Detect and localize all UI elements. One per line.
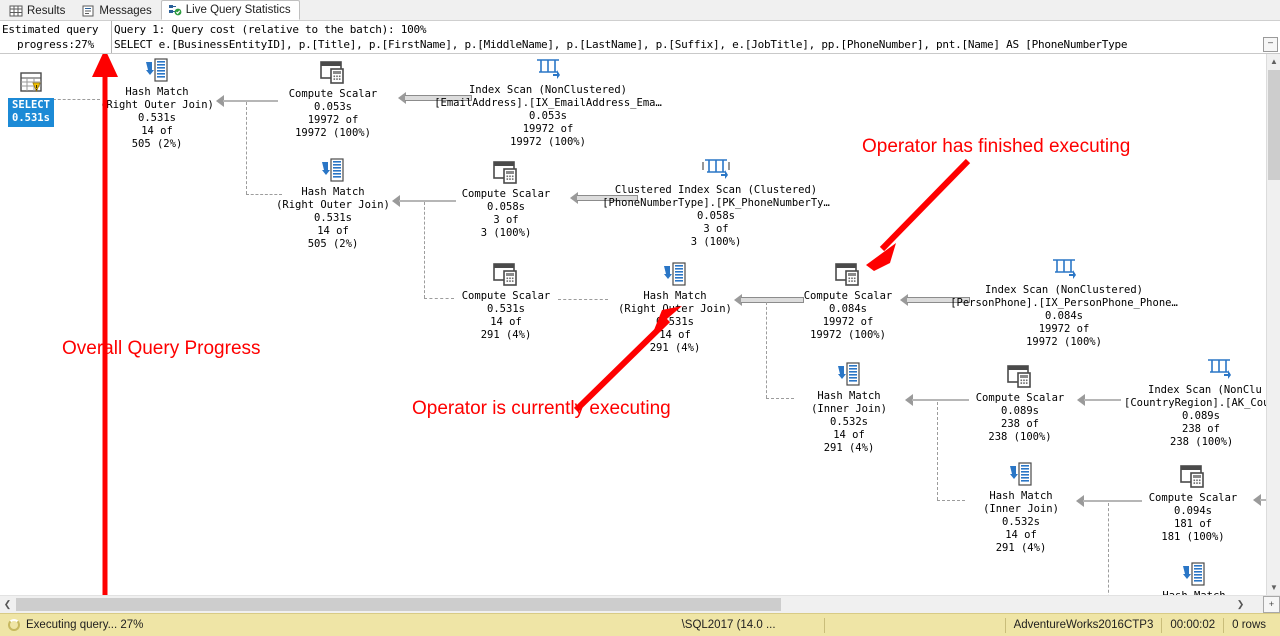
tab-results[interactable]: Results xyxy=(2,0,74,20)
node-line-3: 3 of xyxy=(582,223,850,236)
node-line-2: 0.532s xyxy=(790,416,908,429)
arrow-overall-query-progress xyxy=(80,54,130,595)
hash-match-icon xyxy=(1179,562,1209,588)
node-line-3: 19972 (100%) xyxy=(790,329,906,342)
status-server[interactable]: \SQL2017 (14.0 ... xyxy=(674,614,824,636)
arrow-operator-finished xyxy=(850,149,980,279)
node-line-2: 181 of xyxy=(1135,518,1251,531)
query-header-pane: Estimated query progress:27% Query 1: Qu… xyxy=(0,21,1280,54)
plan-node-index-scan-countryregion[interactable]: Index Scan (NonClu [CountryRegion].[AK_C… xyxy=(1124,356,1266,449)
node-line-3: 181 (100%) xyxy=(1135,531,1251,544)
select-node-label: SELECT xyxy=(12,99,50,112)
node-line-1: (Inner Join) xyxy=(962,503,1080,516)
link-hm2-down xyxy=(424,202,425,298)
node-line-0: Compute Scalar xyxy=(962,392,1078,405)
node-line-2: 0.084s xyxy=(930,310,1198,323)
query-text-block: Query 1: Query cost (relative to the bat… xyxy=(114,21,1264,53)
index-scan-icon xyxy=(1204,356,1234,382)
node-line-2: 0.532s xyxy=(962,516,1080,529)
plan-node-hash-match-inner-2[interactable]: Hash Match (Inner Join) 0.532s 14 of 291… xyxy=(962,462,1080,555)
node-line-0: Hash Match xyxy=(962,490,1080,503)
node-line-0: Index Scan (NonClu xyxy=(1124,384,1266,397)
scroll-right-button[interactable]: ❯ xyxy=(1233,596,1248,613)
plan-horizontal-scrollbar[interactable]: ❮ ❯ + xyxy=(0,595,1280,613)
node-line-3: 19972 of xyxy=(414,123,682,136)
status-rows-text: 0 rows xyxy=(1232,619,1266,631)
node-line-0: Compute Scalar xyxy=(275,88,391,101)
node-line-2: 19972 of xyxy=(275,114,391,127)
plan-node-select[interactable]: SELECT 0.531s xyxy=(8,72,54,127)
node-line-0: Index Scan (NonClustered) xyxy=(930,284,1198,297)
node-line-3: 19972 of xyxy=(930,323,1198,336)
node-line-2: 0.058s xyxy=(582,210,850,223)
node-line-1: [CountryRegion].[AK_Cou xyxy=(1124,397,1266,410)
node-line-4: 19972 (100%) xyxy=(930,336,1198,349)
select-node-time: 0.531s xyxy=(12,112,50,125)
plan-node-index-scan-emailaddress[interactable]: Index Scan (NonClustered) [EmailAddress]… xyxy=(414,56,682,149)
live-query-statistics-window: Results Messages xyxy=(0,0,1280,636)
plan-node-compute-scalar-2[interactable]: Compute Scalar 0.058s 3 of 3 (100%) xyxy=(448,160,564,240)
query-cost-line: Query 1: Query cost (relative to the bat… xyxy=(114,22,1264,37)
node-line-2: 0.531s xyxy=(274,212,392,225)
plan-vertical-scrollbar[interactable]: ▲ ▼ xyxy=(1266,54,1280,595)
node-line-4: 505 (2%) xyxy=(274,238,392,251)
node-line-1: (Right Outer Join) xyxy=(274,199,392,212)
query-sql-line: SELECT e.[BusinessEntityID], p.[Title], … xyxy=(114,37,1264,52)
status-elapsed: 00:00:02 xyxy=(1162,614,1223,636)
compute-scalar-icon xyxy=(1178,464,1208,490)
node-line-0: Clustered Index Scan (Clustered) xyxy=(582,184,850,197)
tab-label-messages: Messages xyxy=(99,5,151,17)
estimated-query-progress-box: Estimated query progress:27% xyxy=(0,21,112,53)
message-icon xyxy=(81,4,95,18)
compute-scalar-icon xyxy=(1005,364,1035,390)
hash-match-icon xyxy=(834,362,864,388)
plan-node-compute-scalar-5[interactable]: Compute Scalar 0.089s 238 of 238 (100%) xyxy=(962,364,1078,444)
link-hm1-down xyxy=(246,102,247,194)
status-database[interactable]: AdventureWorks2016CTP3 xyxy=(1006,614,1162,636)
plan-node-compute-scalar-6[interactable]: Compute Scalar 0.094s 181 of 181 (100%) xyxy=(1135,464,1251,544)
tab-live-query-statistics[interactable]: Live Query Statistics xyxy=(161,0,300,20)
node-line-1: (Inner Join) xyxy=(790,403,908,416)
scroll-left-button[interactable]: ❮ xyxy=(0,596,15,613)
select-node-box: SELECT 0.531s xyxy=(8,98,54,127)
node-line-1: [PhoneNumberType].[PK_PhoneNumberTy… xyxy=(582,197,850,210)
scroll-corner-zoom-button[interactable]: + xyxy=(1263,596,1280,613)
annotation-operator-executing: Operator is currently executing xyxy=(412,398,671,420)
clustered-index-scan-icon xyxy=(701,156,731,182)
link-hm4-down xyxy=(937,402,938,500)
status-execution-text: Executing query... 27% xyxy=(26,619,143,631)
node-line-4: 291 (4%) xyxy=(790,442,908,455)
estimated-progress-line1: Estimated query xyxy=(0,22,111,37)
results-tabstrip: Results Messages xyxy=(0,0,1280,21)
plan-node-compute-scalar-1[interactable]: Compute Scalar 0.053s 19972 of 19972 (10… xyxy=(275,60,391,140)
status-elapsed-text: 00:00:02 xyxy=(1170,619,1215,631)
tab-messages[interactable]: Messages xyxy=(74,0,160,20)
estimated-progress-line2: progress:27% xyxy=(0,37,111,52)
node-line-3: 291 (4%) xyxy=(448,329,564,342)
node-line-0: Compute Scalar xyxy=(790,290,906,303)
tab-label-results: Results xyxy=(27,5,65,17)
horizontal-scroll-thumb[interactable] xyxy=(16,598,781,611)
execution-plan-canvas[interactable]: SELECT 0.531s Hash Match (Right Outer Jo… xyxy=(0,54,1266,595)
node-line-3: 14 of xyxy=(274,225,392,238)
plan-node-hash-match-inner-1[interactable]: Hash Match (Inner Join) 0.532s 14 of 291… xyxy=(790,362,908,455)
hash-match-icon xyxy=(1006,462,1036,488)
progress-spinner-icon xyxy=(8,619,20,631)
link-hm3-down xyxy=(766,302,767,398)
node-line-0: Compute Scalar xyxy=(448,188,564,201)
plan-node-clustered-index-scan-phonenumbertype[interactable]: Clustered Index Scan (Clustered) [PhoneN… xyxy=(582,156,850,249)
scroll-down-button[interactable]: ▼ xyxy=(1267,580,1280,595)
node-line-4: 19972 (100%) xyxy=(414,136,682,149)
hash-match-icon xyxy=(142,58,172,84)
select-result-icon xyxy=(14,72,48,98)
status-execution: Executing query... 27% xyxy=(0,614,300,636)
minimize-plan-button[interactable]: – xyxy=(1263,37,1278,52)
link-cs3-to-hm3 xyxy=(558,299,608,300)
status-bar: Executing query... 27% \SQL2017 (14.0 ..… xyxy=(0,613,1280,636)
node-line-2: 0.089s xyxy=(1124,410,1266,423)
status-server-text: \SQL2017 (14.0 ... xyxy=(682,619,776,631)
status-user xyxy=(825,614,1005,636)
node-line-1: 0.058s xyxy=(448,201,564,214)
plan-node-hash-match-roj-2[interactable]: Hash Match (Right Outer Join) 0.531s 14 … xyxy=(274,158,392,251)
node-line-2: 14 of xyxy=(448,316,564,329)
node-line-4: 238 (100%) xyxy=(1124,436,1266,449)
node-line-2: 0.053s xyxy=(414,110,682,123)
node-line-3: 3 (100%) xyxy=(448,227,564,240)
node-line-1: 0.053s xyxy=(275,101,391,114)
index-scan-icon xyxy=(533,56,563,82)
scroll-up-button[interactable]: ▲ xyxy=(1267,54,1280,69)
live-stats-icon xyxy=(168,3,182,17)
node-line-0: Compute Scalar xyxy=(448,290,564,303)
node-line-0: Hash Match xyxy=(274,186,392,199)
compute-scalar-icon xyxy=(491,262,521,288)
node-line-1: 0.084s xyxy=(790,303,906,316)
compute-scalar-icon xyxy=(318,60,348,86)
node-line-3: 238 (100%) xyxy=(962,431,1078,444)
node-line-3: 14 of xyxy=(962,529,1080,542)
link-hm4-down-to-hm5 xyxy=(937,500,965,501)
node-line-2: 19972 of xyxy=(790,316,906,329)
node-line-1: 0.089s xyxy=(962,405,1078,418)
node-line-0: Hash Match xyxy=(790,390,908,403)
node-line-0: Compute Scalar xyxy=(1135,492,1251,505)
node-line-3: 238 of xyxy=(1124,423,1266,436)
link-hm5-down xyxy=(1108,503,1109,595)
node-line-4: 291 (4%) xyxy=(962,542,1080,555)
annotation-operator-finished: Operator has finished executing xyxy=(862,136,1130,158)
plan-node-compute-scalar-3[interactable]: Compute Scalar 0.531s 14 of 291 (4%) xyxy=(448,262,564,342)
node-line-1: 0.531s xyxy=(448,303,564,316)
node-line-3: 14 of xyxy=(790,429,908,442)
index-scan-icon xyxy=(1049,256,1079,282)
grid-icon xyxy=(9,4,23,18)
node-line-4: 3 (100%) xyxy=(582,236,850,249)
node-line-2: 3 of xyxy=(448,214,564,227)
tab-label-live-query-statistics: Live Query Statistics xyxy=(186,4,291,16)
plan-node-hash-match-clipped[interactable]: Hash Match xyxy=(1135,562,1253,595)
hash-match-icon xyxy=(318,158,348,184)
vertical-scroll-thumb[interactable] xyxy=(1268,70,1280,180)
node-line-1: [EmailAddress].[IX_EmailAddress_Ema… xyxy=(414,97,682,110)
node-line-2: 238 of xyxy=(962,418,1078,431)
hash-match-icon xyxy=(660,262,690,288)
node-line-1: [PersonPhone].[IX_PersonPhone_Phone… xyxy=(930,297,1198,310)
node-line-1: 0.094s xyxy=(1135,505,1251,518)
node-line-0: Index Scan (NonClustered) xyxy=(414,84,682,97)
annotation-overall-query-progress: Overall Query Progress xyxy=(62,338,261,360)
status-rows: 0 rows xyxy=(1224,614,1280,636)
node-line-3: 19972 (100%) xyxy=(275,127,391,140)
compute-scalar-icon xyxy=(491,160,521,186)
status-database-text: AdventureWorks2016CTP3 xyxy=(1014,619,1154,631)
